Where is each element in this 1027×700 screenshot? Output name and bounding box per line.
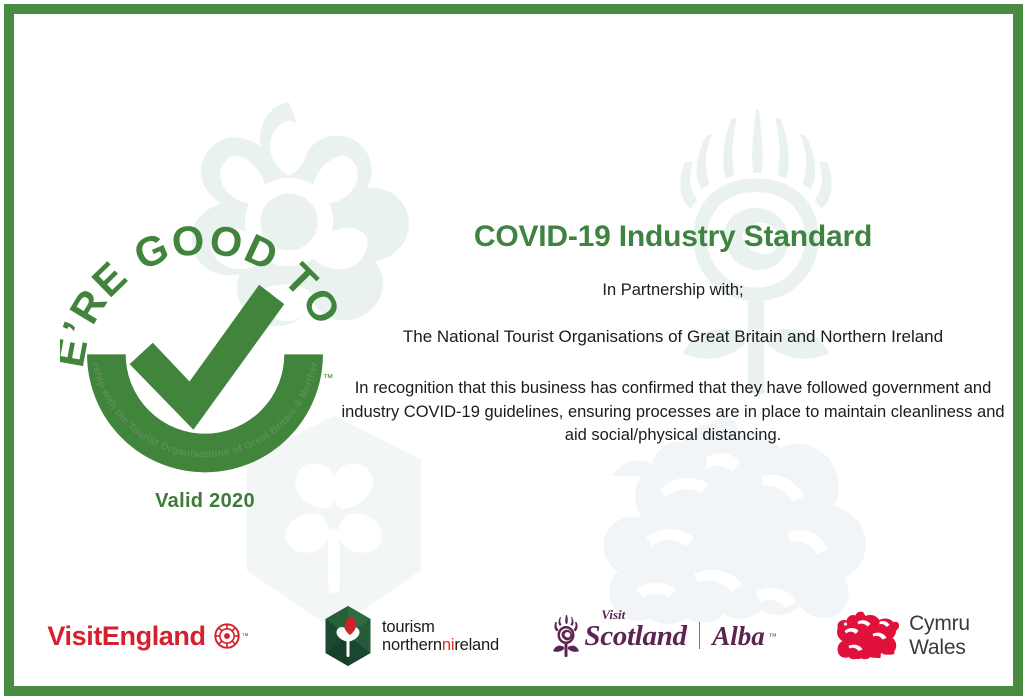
certificate-text-block: COVID-19 Industry Standard In Partnershi… — [340, 220, 1006, 447]
footer-logo-row: VisitEngland — [14, 594, 1013, 678]
visitengland-logo: VisitEngland — [47, 621, 248, 652]
visitengland-trademark: ™ — [242, 633, 249, 640]
page-title: COVID-19 Industry Standard — [340, 220, 1006, 253]
tourism-ni-line1: tourism — [382, 618, 499, 636]
partner-organisations: The National Tourist Organisations of Gr… — [340, 327, 1006, 347]
shamrock-heart-hexagon-icon — [323, 605, 373, 667]
ni-word-reland: reland — [454, 636, 499, 654]
england-rose-emblem-icon — [214, 623, 240, 649]
cymru-wales-line1: Cymru — [909, 612, 970, 636]
thistle-icon — [553, 614, 579, 658]
recognition-statement: In recognition that this business has co… — [340, 377, 1006, 447]
cymru-wales-wordmark: Cymru Wales — [909, 612, 970, 660]
cymru-wales-line2: Wales — [909, 636, 970, 660]
visitscotland-alba-word: Alba — [712, 621, 765, 651]
check-mark-icon — [130, 285, 285, 430]
tourism-ni-wordmark: tourism northernnireland — [382, 618, 499, 655]
badge-trademark: ™ — [323, 372, 334, 384]
were-good-to-go-badge: WE’RE GOOD TO GO ™ In Partnership with t… — [60, 192, 350, 482]
visitscotland-alba-logo: Visit Scotland Alba ™ — [553, 614, 776, 658]
certificate-body: WE’RE GOOD TO GO ™ In Partnership with t… — [14, 14, 1013, 686]
visitscotland-scotland-word: Scotland — [584, 620, 686, 652]
valid-year-label: Valid 2020 — [60, 490, 350, 513]
tourism-northern-ireland-logo: tourism northernnireland — [323, 605, 499, 667]
logo-slot-visitengland: VisitEngland — [14, 621, 282, 652]
visitscotland-trademark: ™ — [769, 631, 777, 640]
visitscotland-divider — [699, 622, 701, 649]
visitscotland-wordmark: Visit Scotland Alba ™ — [584, 620, 776, 653]
visitengland-wordmark: VisitEngland — [47, 621, 205, 652]
ni-word-northern: northern — [382, 636, 442, 654]
badge-arc-text: WE’RE GOOD TO GO — [60, 192, 350, 370]
logo-slot-cymru-wales: Cymru Wales — [790, 610, 1013, 662]
partnership-subtitle: In Partnership with; — [340, 281, 1006, 301]
certificate-page: WE’RE GOOD TO GO ™ In Partnership with t… — [0, 0, 1027, 700]
welsh-dragon-icon — [833, 610, 899, 662]
logo-slot-tourism-ni: tourism northernnireland — [282, 605, 540, 667]
logo-slot-visitscotland: Visit Scotland Alba ™ — [540, 614, 790, 658]
cymru-wales-logo: Cymru Wales — [833, 610, 970, 662]
ni-word-ni: ni — [442, 636, 454, 654]
tourism-ni-line2: northernnireland — [382, 636, 499, 654]
visitscotland-visit-word: Visit — [601, 607, 625, 623]
